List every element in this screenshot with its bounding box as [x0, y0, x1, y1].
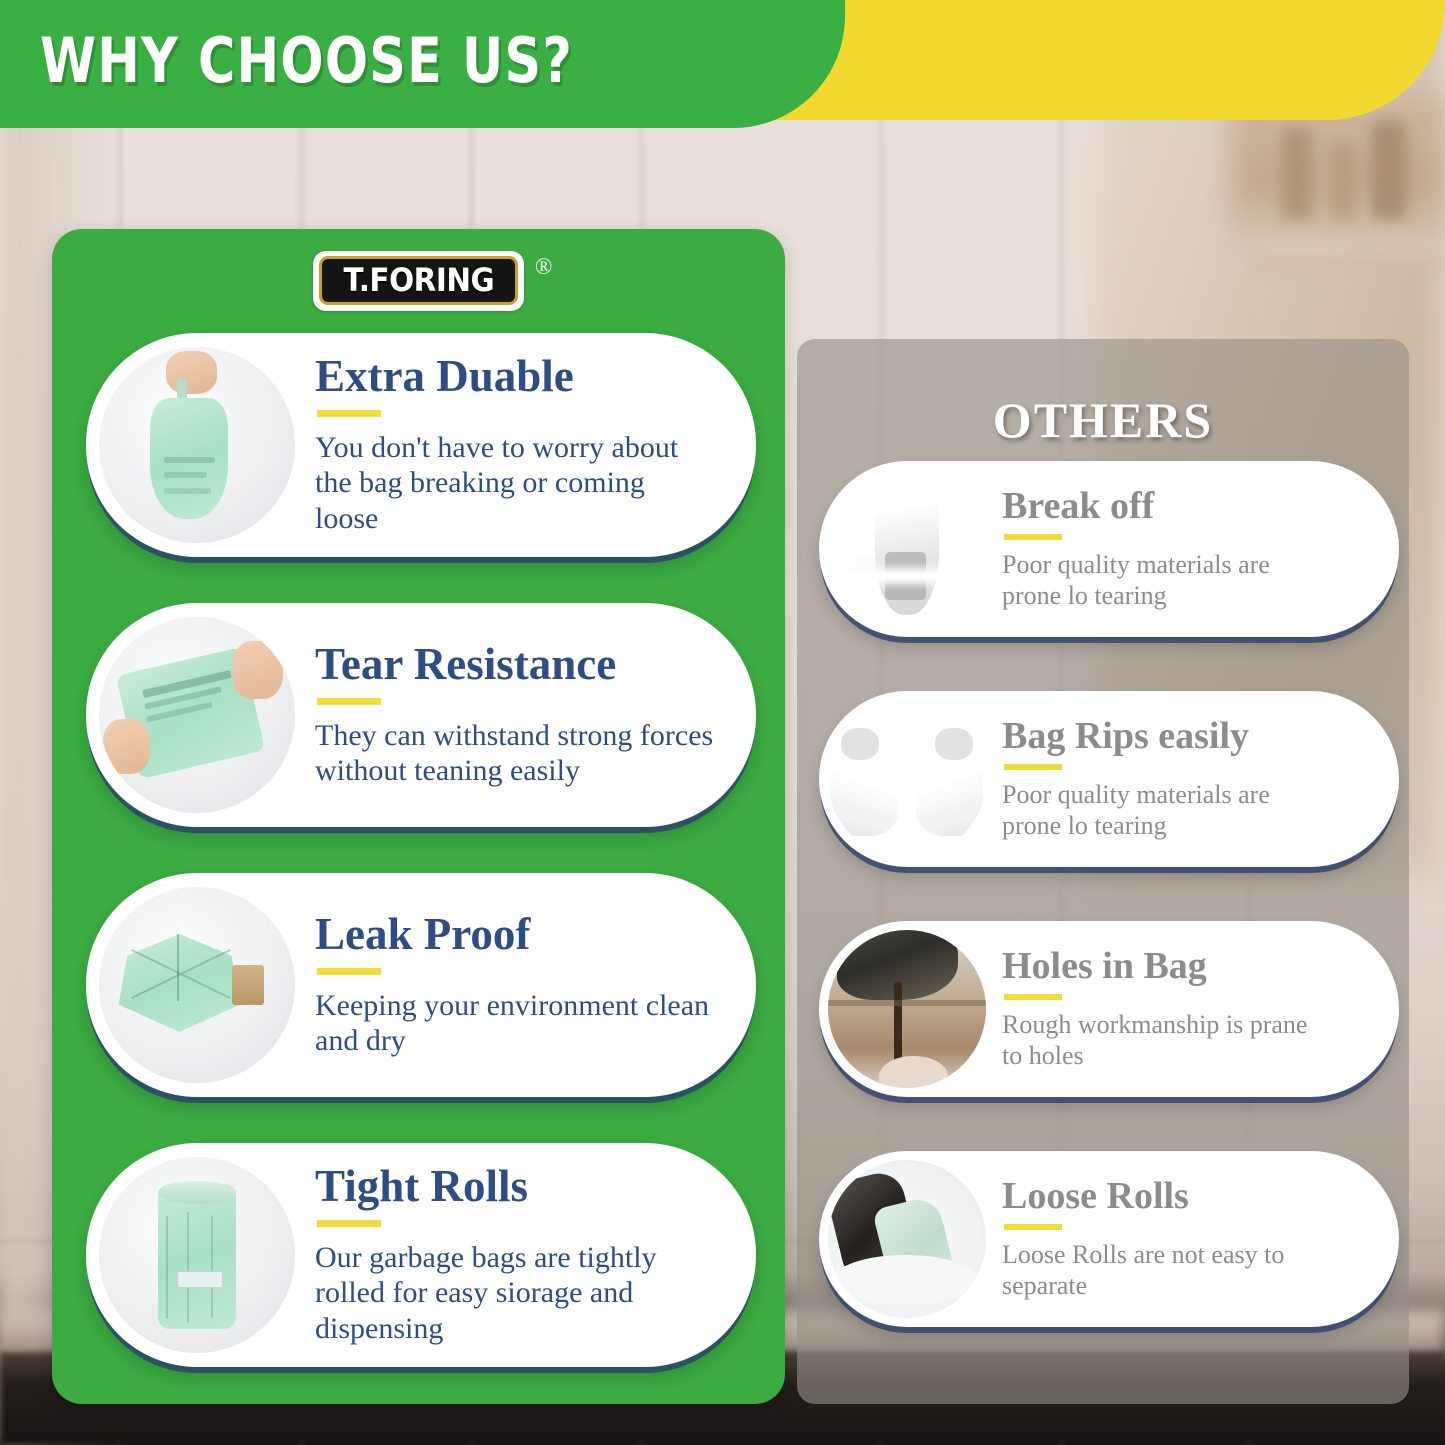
others-card-loose-rolls[interactable]: Loose Rolls Loose Rolls are not easy to …: [819, 1151, 1399, 1327]
card-title: Leak Proof: [315, 912, 715, 957]
thumbnail-green-bag-water-test: [99, 887, 295, 1083]
card-text-group: Extra Duable You don't have to worry abo…: [295, 354, 729, 536]
photo-placeholder: [99, 887, 295, 1083]
shelf-jar: [1372, 120, 1406, 220]
infographic-canvas: WHY CHOOSE US? OTHERS Break off Poor qua…: [0, 0, 1445, 1445]
card-text-group: Leak Proof Keeping your environment clea…: [295, 912, 729, 1059]
card-title: Break off: [1002, 487, 1332, 525]
feature-card-tear-resistance[interactable]: Tear Resistance They can withstand stron…: [86, 603, 756, 827]
green-header-banner: WHY CHOOSE US?: [0, 0, 845, 128]
card-description: Rough workmanship is prane to holes: [1002, 1010, 1332, 1071]
card-description: Poor quality materials are prone lo tear…: [1002, 780, 1332, 841]
card-description: Poor quality materials are prone lo tear…: [1002, 550, 1332, 611]
shelf-jar: [1282, 128, 1312, 220]
thumbnail-hands-stretching-compostable-bag: [99, 617, 295, 813]
accent-underline: [1004, 764, 1062, 770]
card-title: Holes in Bag: [1002, 947, 1332, 985]
card-description: Loose Rolls are not easy to separate: [1002, 1240, 1332, 1301]
photo-placeholder: [828, 930, 986, 1088]
card-description: Our garbage bags are tightly rolled for …: [315, 1240, 715, 1346]
registered-trademark-icon: ®: [535, 255, 552, 278]
photo-placeholder: [828, 700, 986, 858]
thumbnail-black-bag-leaking-liquid: [828, 930, 986, 1088]
card-text-group: Holes in Bag Rough workmanship is prane …: [986, 947, 1346, 1071]
accent-underline: [317, 968, 381, 975]
card-text-group: Tight Rolls Our garbage bags are tightly…: [295, 1164, 729, 1346]
card-text-group: Loose Rolls Loose Rolls are not easy to …: [986, 1177, 1346, 1301]
accent-underline: [1004, 994, 1062, 1000]
photo-placeholder: [99, 347, 295, 543]
photo-placeholder: [828, 470, 986, 628]
card-text-group: Tear Resistance They can withstand stron…: [295, 642, 729, 789]
thumbnail-loose-black-and-green-rolls: [828, 1160, 986, 1318]
brand-logo: T.FORING ®: [52, 251, 785, 311]
page-title: WHY CHOOSE US?: [40, 24, 573, 97]
card-title: Tear Resistance: [315, 642, 715, 687]
shelf-jar: [1330, 142, 1356, 220]
photo-placeholder: [99, 617, 295, 813]
accent-underline: [317, 698, 381, 705]
feature-card-extra-duable[interactable]: Extra Duable You don't have to worry abo…: [86, 333, 756, 557]
thumbnail-hands-ripping-white-bag: [828, 700, 986, 858]
card-title: Loose Rolls: [1002, 1177, 1332, 1215]
card-description: They can withstand strong forces without…: [315, 718, 715, 789]
thumbnail-tightly-rolled-green-bag-roll: [99, 1157, 295, 1353]
accent-underline: [1004, 534, 1062, 540]
feature-card-tight-rolls[interactable]: Tight Rolls Our garbage bags are tightly…: [86, 1143, 756, 1367]
card-text-group: Break off Poor quality materials are pro…: [986, 487, 1346, 611]
brand-logo-text: T.FORING: [343, 264, 494, 296]
accent-underline: [317, 410, 381, 417]
card-text-group: Bag Rips easily Poor quality materials a…: [986, 717, 1346, 841]
accent-underline: [1004, 1224, 1062, 1230]
thumbnail-hand-holding-filled-green-bag: [99, 347, 295, 543]
card-description: Keeping your environment clean and dry: [315, 988, 715, 1059]
card-title: Bag Rips easily: [1002, 717, 1332, 755]
others-card-holes-in-bag[interactable]: Holes in Bag Rough workmanship is prane …: [819, 921, 1399, 1097]
photo-placeholder: [99, 1157, 295, 1353]
lower-shelf: [1250, 245, 1445, 267]
card-title: Extra Duable: [315, 354, 715, 399]
card-title: Tight Rolls: [315, 1164, 715, 1209]
others-heading: OTHERS: [797, 391, 1409, 449]
brand-panel: T.FORING ® Extra Duable: [52, 229, 785, 1404]
card-description: You don't have to worry about the bag br…: [315, 430, 715, 536]
accent-underline: [317, 1220, 381, 1227]
photo-placeholder: [828, 1160, 986, 1318]
thumbnail-torn-white-bag-with-cans: [828, 470, 986, 628]
feature-card-leak-proof[interactable]: Leak Proof Keeping your environment clea…: [86, 873, 756, 1097]
others-panel: OTHERS Break off Poor quality materials …: [797, 339, 1409, 1404]
others-card-break-off[interactable]: Break off Poor quality materials are pro…: [819, 461, 1399, 637]
others-card-bag-rips-easily[interactable]: Bag Rips easily Poor quality materials a…: [819, 691, 1399, 867]
